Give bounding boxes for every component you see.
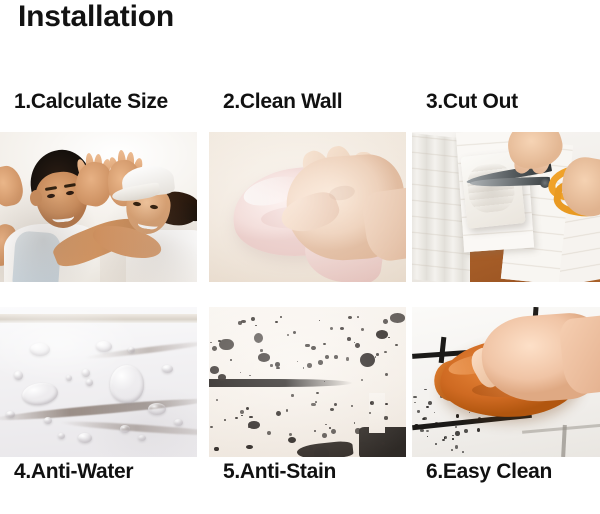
stain-speck [442,439,445,441]
step-cell-6: 6.Easy Clean [412,293,600,488]
stain-speck [478,417,481,421]
photo-shading [209,307,406,457]
photo-shading [0,307,197,457]
steps-row-bottom: 4.Anti-Water 5.Anti-Stain [0,293,600,488]
stain-speck [426,430,429,432]
step-label-4: 4.Anti-Water [14,460,133,484]
stain-speck [464,429,468,433]
photo-cut-out [412,132,600,282]
photo-shading [209,132,406,282]
step-cell-4: 4.Anti-Water [0,293,197,488]
step-label-6: 6.Easy Clean [426,460,552,484]
stain-speck [435,443,437,445]
stain-speck [462,451,465,453]
stain-speck [455,431,459,436]
stain-speck [422,418,425,420]
stain-speck [417,410,420,413]
stain-speck [428,401,433,405]
photo-calculate-size [0,132,197,282]
stain-speck [426,406,429,409]
step-label-1: 1.Calculate Size [14,90,168,114]
stain-speck [427,436,428,437]
step-cell-5: 5.Anti-Stain [209,293,406,488]
photo-shading [0,132,197,282]
steps-row-top: 1.Calculate Size [0,88,600,283]
photo-anti-stain [209,307,406,457]
photo-easy-clean [412,307,600,457]
installation-infographic: Installation 1.Calculate Size [0,0,600,514]
page-title: Installation [18,0,174,36]
step-cell-1: 1.Calculate Size [0,88,197,283]
stain-speck [435,422,438,424]
stain-speck [414,424,419,429]
step-cell-2: 2.Clean Wall [209,88,406,283]
stain-speck [456,414,459,418]
photo-clean-wall [209,132,406,282]
step-label-3: 3.Cut Out [426,90,518,114]
stain-speck [434,412,435,413]
step-label-2: 2.Clean Wall [223,90,342,114]
stain-speck [477,428,480,432]
stain-speck [455,445,459,449]
step-cell-3: 3.Cut Out [412,88,600,283]
photo-anti-water [0,307,197,457]
step-label-5: 5.Anti-Stain [223,460,336,484]
